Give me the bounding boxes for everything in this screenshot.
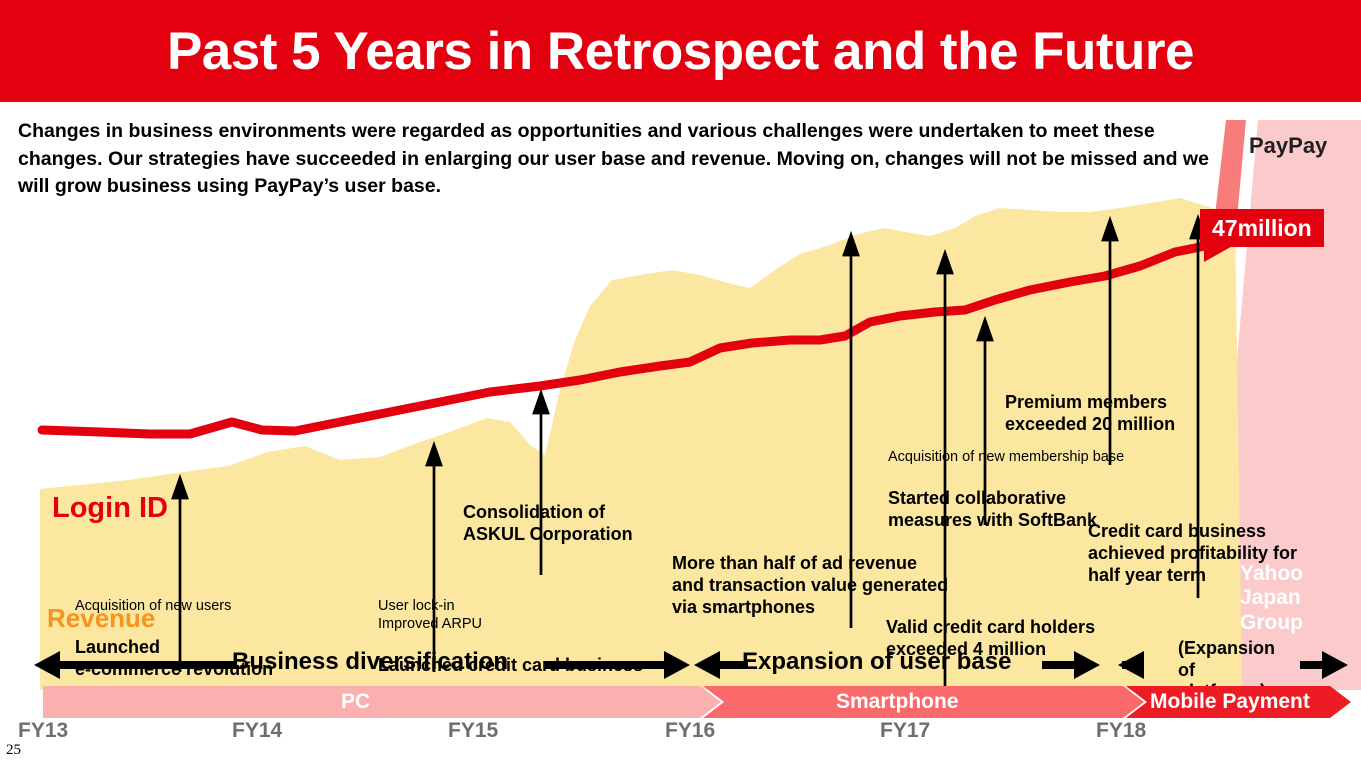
annotation-credit-card-profit-big: Credit card business achieved profitabil… [1088,520,1297,587]
phase-label-business-diversification: Business diversification [232,648,508,676]
annotation-askul: Consolidation of ASKUL Corporation [463,481,633,565]
page-number: 25 [6,742,21,759]
annotation-premium-members-big: Premium members exceeded 20 million [1005,391,1175,436]
axis-tick-fy18: FY18 [1096,719,1146,743]
chevron-pc[interactable] [43,686,721,718]
axis-tick-fy13: FY13 [18,719,68,743]
chevron-label-mobile-payment: Mobile Payment [1150,690,1310,714]
annotation-askul-big: Consolidation of ASKUL Corporation [463,501,633,546]
value-badge-tail [1204,244,1236,262]
phase-label-expansion-of-user-base: Expansion of user base [742,648,1011,676]
chevron-label-pc: PC [341,690,370,714]
title-banner: Past 5 Years in Retrospect and the Futur… [0,0,1361,102]
axis-tick-fy16: FY16 [665,719,715,743]
annotation-premium-members: Premium members exceeded 20 million [1005,371,1175,455]
phase-arrow-band [0,645,1361,685]
axis-tick-fy17: FY17 [880,719,930,743]
annotation-creditcard-small: User lock-in Improved ARPU [378,598,643,634]
chevron-label-smartphone: Smartphone [836,690,959,714]
annotation-credit-card-profit: Credit card business achieved profitabil… [1088,500,1297,607]
value-badge-47million: 47million [1200,209,1324,247]
login-id-label: Login ID [52,492,168,525]
annotation-ecommerce-small: Acquisition of new users [75,598,273,616]
paypay-label: PayPay [1249,133,1327,159]
axis-tick-fy15: FY15 [448,719,498,743]
page-title: Past 5 Years in Retrospect and the Futur… [167,25,1194,78]
axis-tick-fy14: FY14 [232,719,282,743]
